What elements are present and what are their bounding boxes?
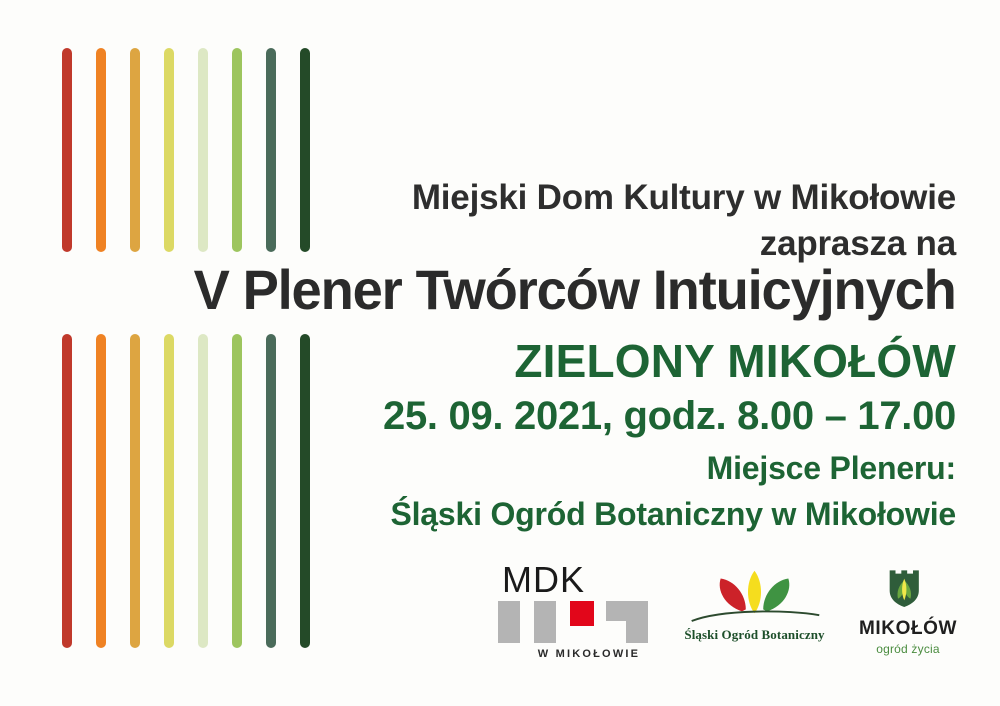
logo-mikolow: MIKOŁÓW ogród życia (848, 562, 968, 656)
decorative-bar (130, 334, 140, 648)
leaf-red-icon (720, 579, 746, 612)
decorative-bar (62, 334, 72, 648)
ground-arc-icon (692, 611, 820, 621)
mikolow-shield-icon (883, 562, 933, 612)
decorative-bar (198, 334, 208, 648)
decorative-bars-bottom (62, 334, 310, 648)
decorative-bar (300, 48, 310, 252)
logo-mdk: MDK W MIKOŁOWIE (490, 562, 660, 660)
leaf-green-icon (763, 579, 789, 612)
decorative-bar (164, 334, 174, 648)
botanical-garden-leaf-mark (682, 562, 827, 624)
event-date-time: 25. 09. 2021, godz. 8.00 – 17.00 (383, 396, 956, 436)
poster-canvas: Miejski Dom Kultury w Mikołowie zaprasza… (0, 0, 1000, 706)
mdk-hook-leg (626, 621, 648, 643)
venue-name: Śląski Ogród Botaniczny w Mikołowie (390, 498, 956, 530)
poster-title: V Plener Twórców Intuicyjnych (194, 262, 956, 318)
logo-strip: MDK W MIKOŁOWIE Śląski Ogró (470, 562, 970, 672)
decorative-bar (96, 48, 106, 252)
mdk-hook-top (606, 601, 648, 621)
mikolow-wordmark: MIKOŁÓW (848, 619, 968, 638)
venue-label: Miejsce Pleneru: (707, 452, 956, 484)
decorative-bar (266, 48, 276, 252)
decorative-bar (300, 334, 310, 648)
logo-slaski-ogrod-botaniczny: Śląski Ogród Botaniczny (682, 562, 827, 643)
decorative-bar (266, 334, 276, 648)
decorative-bar (232, 334, 242, 648)
mdk-caption: W MIKOŁOWIE (490, 648, 660, 660)
decorative-bar (62, 48, 72, 252)
decorative-bar (232, 48, 242, 252)
botanical-garden-caption: Śląski Ogród Botaniczny (682, 627, 827, 643)
decorative-bars-top (62, 48, 310, 252)
mdk-gray-bar-mid (534, 601, 556, 643)
leaf-yellow-icon (748, 571, 761, 614)
mdk-red-square (570, 601, 594, 626)
decorative-bar (164, 48, 174, 252)
mdk-gray-bar-left (498, 601, 520, 643)
mikolow-tagline: ogród życia (848, 642, 968, 656)
decorative-bar (198, 48, 208, 252)
mdk-wordmark: MDK (490, 562, 660, 598)
mdk-block-mark (490, 601, 660, 643)
decorative-bar (96, 334, 106, 648)
poster-subtitle: ZIELONY MIKOŁÓW (514, 338, 956, 384)
invite-line-1: Miejski Dom Kultury w Mikołowie (412, 180, 956, 215)
invite-line-2: zaprasza na (760, 226, 956, 261)
decorative-bar (130, 48, 140, 252)
